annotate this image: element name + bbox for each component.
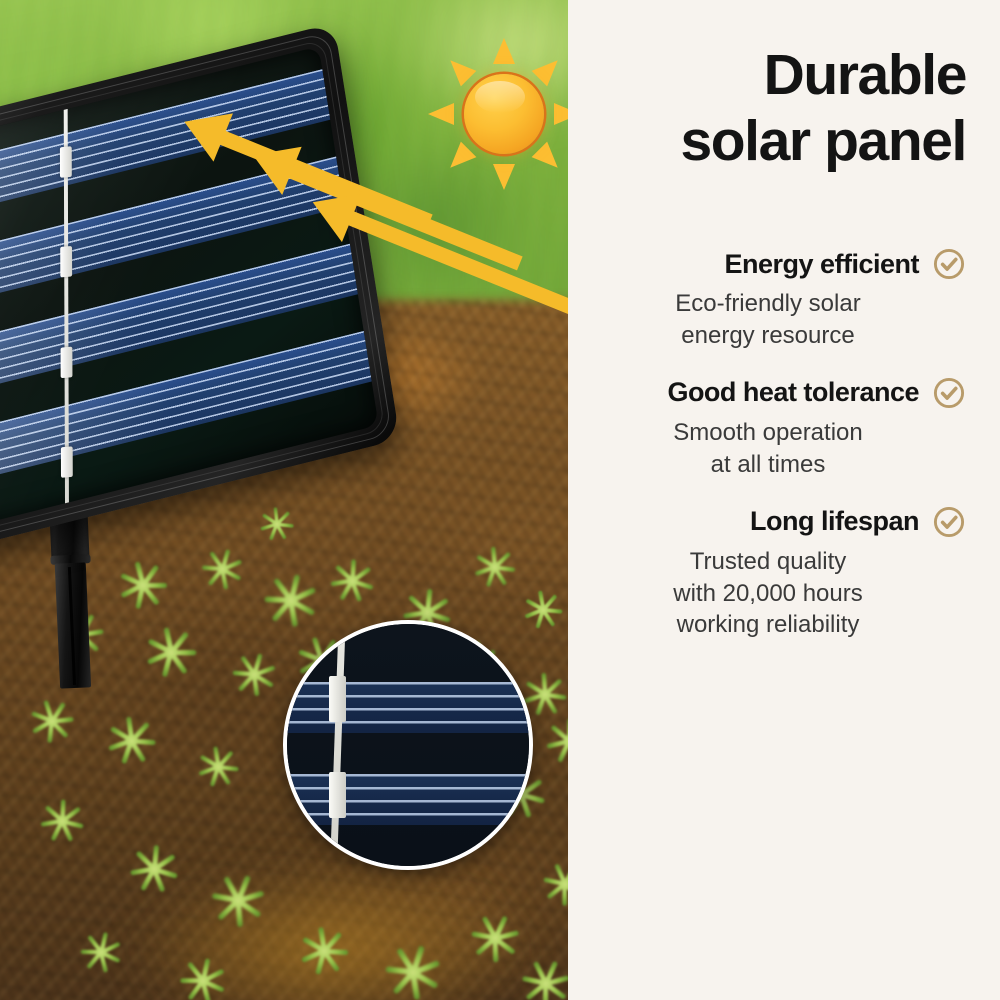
feature-desc-line: energy resource xyxy=(681,322,854,349)
sun-ray xyxy=(493,38,515,64)
feature-title: Energy efficient xyxy=(724,249,919,280)
feature-item-good-heat-tolerance: Good heat tolerance Smooth operation at … xyxy=(578,376,966,481)
product-feature-graphic: Durable solar panel Energy efficient Eco… xyxy=(0,0,1000,1000)
sun-ray xyxy=(554,103,568,125)
feature-desc-line: Eco-friendly solar xyxy=(675,290,860,317)
feature-desc-line: working reliability xyxy=(677,611,860,638)
sun-ray xyxy=(442,142,476,176)
busbar-ribbon xyxy=(63,86,68,521)
headline-line-1: Durable xyxy=(764,43,966,107)
sun-ray xyxy=(493,164,515,190)
plant-sprig xyxy=(384,946,442,1000)
plant-sprig xyxy=(211,876,266,931)
page-title: Durable solar panel xyxy=(578,42,990,174)
feature-desc-line: Smooth operation xyxy=(673,419,862,446)
check-circle-icon xyxy=(932,376,966,410)
feature-title: Good heat tolerance xyxy=(667,377,919,408)
plant-sprig xyxy=(181,961,225,1000)
feature-description: Trusted quality with 20,000 hours workin… xyxy=(578,546,966,642)
plant-sprig xyxy=(468,913,518,963)
plant-sprig xyxy=(523,588,563,628)
feature-desc-line: at all times xyxy=(711,451,826,478)
magnified-cell-inset xyxy=(283,620,533,870)
sun-ray xyxy=(532,142,566,176)
feature-desc-line: Trusted quality xyxy=(690,548,847,575)
feature-item-energy-efficient: Energy efficient Eco-friendly solar ener… xyxy=(578,247,966,352)
plant-sprig xyxy=(196,743,241,788)
feature-description: Eco-friendly solar energy resource xyxy=(578,288,966,352)
feature-heading-row: Energy efficient xyxy=(578,247,966,281)
inset-background xyxy=(287,624,529,866)
feature-description: Smooth operation at all times xyxy=(578,417,966,481)
feature-heading-row: Long lifespan xyxy=(578,505,966,539)
check-circle-icon xyxy=(932,247,966,281)
stake-lower-spike xyxy=(55,562,91,688)
feature-text-panel: Durable solar panel Energy efficient Eco… xyxy=(568,0,1000,1000)
sun-ray xyxy=(442,52,476,86)
feature-item-long-lifespan: Long lifespan Trusted quality with 20,00… xyxy=(578,505,966,642)
check-circle-icon xyxy=(932,505,966,539)
sun-ray xyxy=(428,103,454,125)
headline-line-2: solar panel xyxy=(578,108,966,174)
sun-disc xyxy=(464,74,544,154)
feature-desc-line: with 20,000 hours xyxy=(673,580,862,607)
sun-ray xyxy=(532,52,566,86)
feature-heading-row: Good heat tolerance xyxy=(578,376,966,410)
feature-title: Long lifespan xyxy=(750,506,919,537)
sun-icon xyxy=(428,38,568,190)
product-photo xyxy=(0,0,568,1000)
inset-busbar xyxy=(329,620,346,870)
feature-list: Energy efficient Eco-friendly solar ener… xyxy=(578,247,990,665)
